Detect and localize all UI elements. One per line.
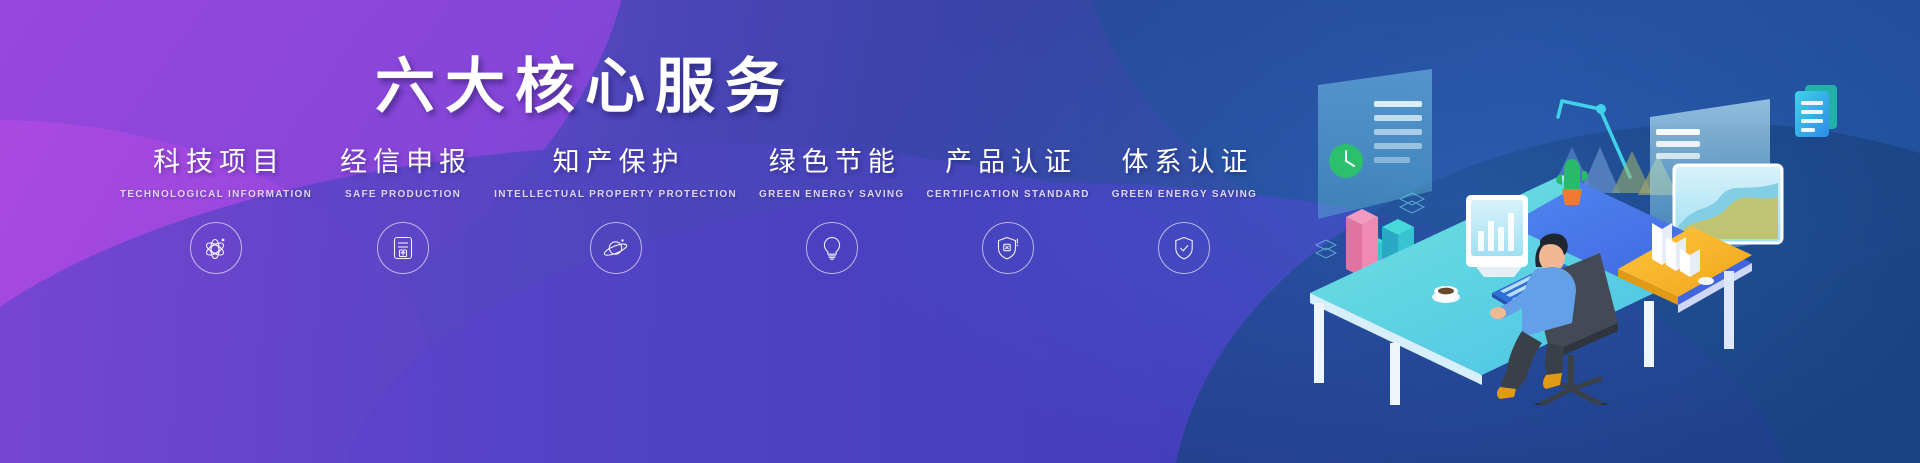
service-title-cn: 经信申报 (334, 140, 472, 179)
planet-icon (590, 222, 642, 274)
banner-title: 六大核心服务 (0, 38, 1170, 125)
service-title-cn: 产品认证 (939, 140, 1077, 179)
service-item-green-energy-saving[interactable]: 绿色节能 GREEN ENERGY SAVING (759, 140, 904, 274)
service-item-system-certification[interactable]: 体系认证 GREEN ENERGY SAVING (1112, 140, 1257, 274)
service-title-en: GREEN ENERGY SAVING (1112, 189, 1257, 200)
lightbulb-icon (806, 222, 858, 274)
service-item-certification-standard[interactable]: 产品认证 CERTIFICATION STANDARD (927, 140, 1090, 274)
service-item-safe-production[interactable]: 经信申报 SAFE PRODUCTION (334, 140, 472, 274)
floating-panel-clock (1318, 69, 1432, 219)
service-title-en: SAFE PRODUCTION (345, 189, 461, 200)
lamp-joint (1596, 104, 1606, 114)
service-item-technological-information[interactable]: 科技项目 TECHNOLOGICAL INFORMATION (120, 140, 312, 274)
service-title-en: INTELLECTUAL PROPERTY PROTECTION (494, 189, 737, 200)
atom-icon (190, 222, 242, 274)
document-upload-icon (377, 222, 429, 274)
banner-root: 六大核心服务 科技项目 TECHNOLOGICAL INFORMATION 经信… (0, 0, 1920, 463)
service-title-cn: 科技项目 (147, 140, 285, 179)
services-row: 科技项目 TECHNOLOGICAL INFORMATION 经信申报 SAFE… (120, 140, 1257, 274)
service-item-intellectual-property-protection[interactable]: 知产保护 INTELLECTUAL PROPERTY PROTECTION (494, 140, 737, 274)
shield-badge-icon (982, 222, 1034, 274)
isometric-office-illustration (1300, 55, 1920, 405)
service-title-cn: 知产保护 (547, 140, 685, 179)
service-title-cn: 绿色节能 (763, 140, 901, 179)
coffee-cup (1432, 286, 1460, 303)
floating-document-card (1795, 85, 1837, 137)
shield-check-icon (1158, 222, 1210, 274)
service-title-cn: 体系认证 (1115, 140, 1253, 179)
service-title-en: GREEN ENERGY SAVING (759, 189, 904, 200)
service-title-en: TECHNOLOGICAL INFORMATION (120, 189, 312, 200)
monitor (1466, 195, 1528, 277)
service-title-en: CERTIFICATION STANDARD (927, 189, 1090, 200)
